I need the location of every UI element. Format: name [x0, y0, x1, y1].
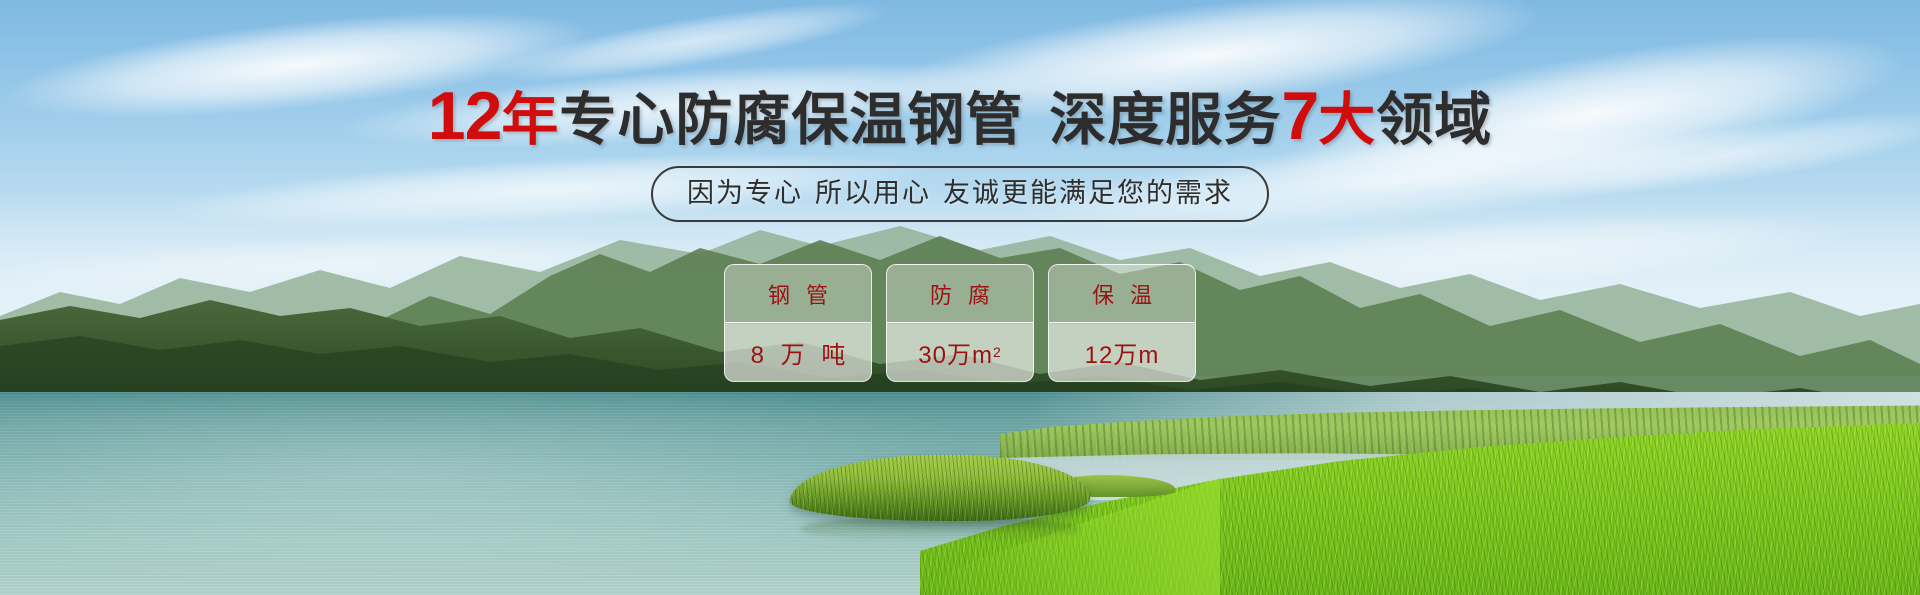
stat-card-anticorrosion[interactable]: 防 腐 30万m2	[886, 264, 1034, 382]
banner-headline: 12年专心防腐保温钢管深度服务7大领域	[0, 84, 1920, 152]
subtitle-part-three: 友诚更能满足您的需求	[943, 178, 1233, 208]
stat-card-group: 钢 管 8 万 吨 防 腐 30万m2 保 温 12万m	[724, 264, 1196, 382]
headline-segment-one: 专心防腐保温钢管	[559, 88, 1023, 152]
stat-card-steel-pipe[interactable]: 钢 管 8 万 吨	[724, 264, 872, 382]
subtitle-pill: 因为专心所以用心友诚更能满足您的需求	[651, 166, 1269, 222]
headline-segment-three: 领域	[1376, 88, 1492, 152]
headline-fields-number: 7	[1281, 78, 1318, 154]
headline-years-number: 12	[428, 78, 502, 154]
stat-card-label: 保 温	[1049, 265, 1195, 323]
hero-banner: 12年专心防腐保温钢管深度服务7大领域 因为专心所以用心友诚更能满足您的需求 钢…	[0, 0, 1920, 595]
stat-card-value-text: 12万m	[1085, 335, 1160, 370]
stat-card-value-text: 30万m	[918, 335, 993, 370]
stat-card-label: 钢 管	[725, 265, 871, 323]
stat-card-label: 防 腐	[887, 265, 1033, 323]
stat-card-insulation[interactable]: 保 温 12万m	[1048, 264, 1196, 382]
stat-card-value: 12万m	[1049, 323, 1195, 381]
headline-years-unit: 年	[501, 88, 559, 152]
headline-fields-unit: 大	[1318, 88, 1376, 152]
headline-segment-two: 深度服务	[1049, 88, 1281, 152]
stat-card-value: 30万m2	[887, 323, 1033, 381]
subtitle-part-one: 因为专心	[687, 178, 803, 208]
stat-card-value: 8 万 吨	[725, 323, 871, 381]
subtitle-part-two: 所以用心	[815, 178, 931, 208]
stat-card-value-text: 8 万 吨	[746, 335, 851, 370]
